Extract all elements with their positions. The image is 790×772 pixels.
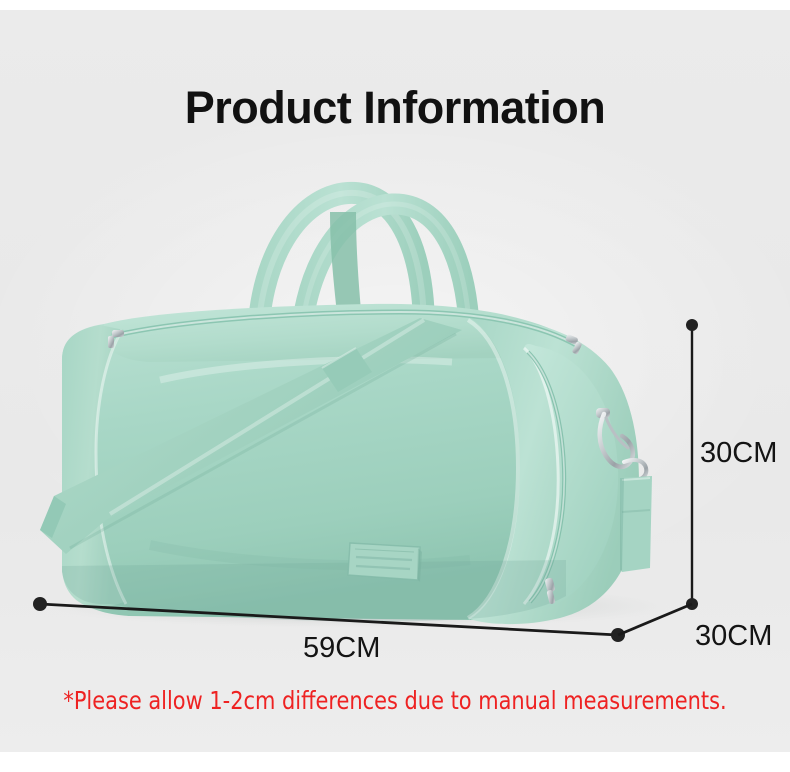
page-title: Product Information xyxy=(0,82,790,134)
dimension-label-depth: 30CM xyxy=(695,620,772,653)
measurement-disclaimer: *Please allow 1-2cm differences due to m… xyxy=(28,686,763,715)
product-information-image: Product Information xyxy=(0,0,790,772)
dimension-label-width: 59CM xyxy=(303,632,380,665)
dimension-label-height: 30CM xyxy=(700,437,777,470)
